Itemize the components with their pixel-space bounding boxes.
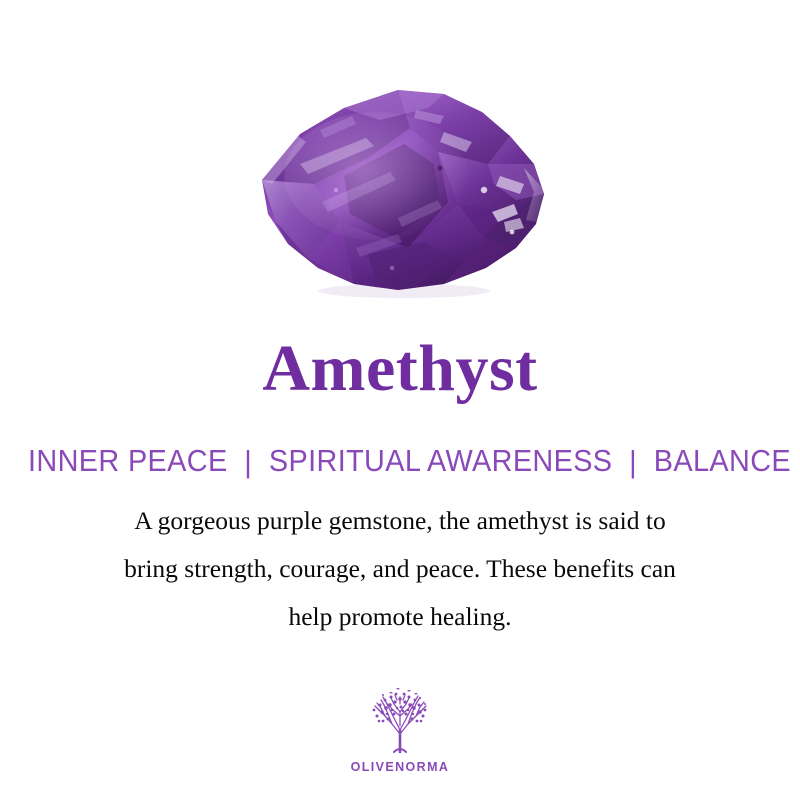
keyword-separator: | bbox=[236, 444, 261, 480]
description-text: A gorgeous purple gemstone, the amethyst… bbox=[60, 497, 740, 641]
amethyst-info-card: Amethyst INNER PEACE | SPIRITUAL AWARENE… bbox=[0, 0, 800, 800]
page-title: Amethyst bbox=[0, 332, 800, 406]
description-line-2: bring strength, courage, and peace. Thes… bbox=[60, 545, 740, 593]
description-line-3: help promote healing. bbox=[60, 593, 740, 641]
keyword-balance: BALANCE bbox=[654, 443, 791, 478]
keyword-separator: | bbox=[621, 444, 646, 480]
brand-logo: OLIVENORMA bbox=[0, 686, 800, 774]
tree-logo-icon bbox=[361, 686, 439, 758]
hero-image-container bbox=[0, 0, 800, 320]
keyword-inner-peace: INNER PEACE bbox=[28, 443, 228, 478]
keyword-spiritual-awareness: SPIRITUAL AWARENESS bbox=[269, 443, 613, 478]
amethyst-crystal-photo bbox=[248, 72, 552, 304]
brand-wordmark: OLIVENORMA bbox=[351, 760, 450, 774]
description-line-1: A gorgeous purple gemstone, the amethyst… bbox=[60, 497, 740, 545]
keyword-line: INNER PEACE | SPIRITUAL AWARENESS | BALA… bbox=[28, 443, 772, 479]
